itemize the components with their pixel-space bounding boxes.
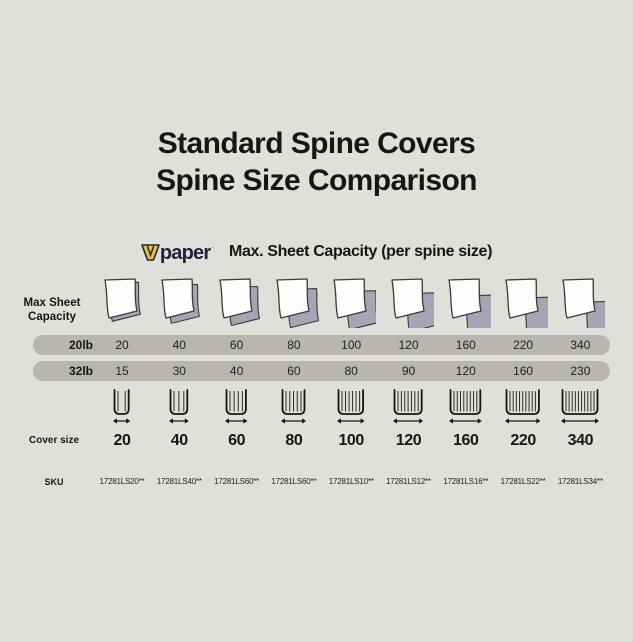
cover-size-value: 220 (495, 430, 552, 452)
paper-stack-icon (94, 274, 151, 330)
capacity-20lb-value: 120 (380, 335, 437, 355)
cover-size-value: 40 (151, 430, 208, 452)
spine-cross-section-icon (208, 388, 265, 428)
row-32lb: 32lb 153040608090120160230 (33, 361, 610, 381)
spine-cross-section-icon (437, 388, 494, 428)
cover-size-value: 60 (208, 430, 265, 452)
cover-size-value: 80 (265, 430, 322, 452)
capacity-20lb-value: 80 (265, 335, 322, 355)
paper-stack-icon (265, 274, 322, 330)
spine-cross-section-icon (323, 388, 380, 428)
spine-cross-section-icon (94, 388, 151, 428)
capacity-32lb-value: 40 (208, 361, 265, 381)
cover-size-value: 20 (94, 430, 151, 452)
paper-stack-icon (323, 274, 380, 330)
capacity-20lb-value: 40 (151, 335, 208, 355)
spine-cross-section-icon (495, 388, 552, 428)
row-20lb: 20lb 20406080100120160220340 (33, 335, 610, 355)
capacity-20lb-value: 60 (208, 335, 265, 355)
capacity-32lb-value: 30 (151, 361, 208, 381)
paper-stack-icon (151, 274, 208, 330)
cover-size-label: Cover size (14, 430, 94, 452)
paper-stack-icon (380, 274, 437, 330)
sku-value: 17281LS20** (92, 474, 152, 490)
spine-cross-section-icon (552, 388, 609, 428)
capacity-20lb-value: 340 (552, 335, 609, 355)
spine-cross-section-icon (380, 388, 437, 428)
capacity-20lb-value: 20 (94, 335, 151, 355)
paper-stack-icon (552, 274, 609, 330)
spine-cross-section-icon (265, 388, 322, 428)
capacity-32lb-value: 60 (265, 361, 322, 381)
capacity-20lb-value: 160 (437, 335, 494, 355)
sku-value: 17281LS60** (207, 474, 267, 490)
sku-value: 17281LS60** (264, 474, 324, 490)
sku-label: SKU (14, 474, 94, 490)
sku-value: 17281LS16** (436, 474, 496, 490)
capacity-32lb-value: 230 (552, 361, 609, 381)
capacity-32lb-value: 90 (380, 361, 437, 381)
spine-cross-section-icon (151, 388, 208, 428)
capacity-32lb-value: 15 (94, 361, 151, 381)
cover-size-value: 100 (323, 430, 380, 452)
capacity-32lb-value: 80 (323, 361, 380, 381)
cover-size-value: 340 (552, 430, 609, 452)
cover-size-value: 120 (380, 430, 437, 452)
sku-row: SKU 17281LS20**17281LS40**17281LS60**172… (0, 474, 633, 490)
sku-value: 17281LS10** (321, 474, 381, 490)
cover-size-row: Cover size 20406080100120160220340 (0, 430, 633, 452)
paper-stack-row (0, 274, 633, 330)
cover-size-value: 160 (437, 430, 494, 452)
capacity-20lb-value: 220 (495, 335, 552, 355)
capacity-20lb-value: 100 (323, 335, 380, 355)
paper-stack-icon (495, 274, 552, 330)
spine-icon-row (0, 388, 633, 428)
sku-value: 17281LS22** (493, 474, 553, 490)
sku-value: 17281LS34** (550, 474, 610, 490)
capacity-32lb-value: 120 (437, 361, 494, 381)
paper-stack-icon (208, 274, 265, 330)
comparison-table: Max Sheet Capacity 20lb 2040608010012016… (0, 0, 633, 642)
paper-stack-icon (437, 274, 494, 330)
sku-value: 17281LS12** (379, 474, 439, 490)
sku-value: 17281LS40** (149, 474, 209, 490)
capacity-32lb-value: 160 (495, 361, 552, 381)
